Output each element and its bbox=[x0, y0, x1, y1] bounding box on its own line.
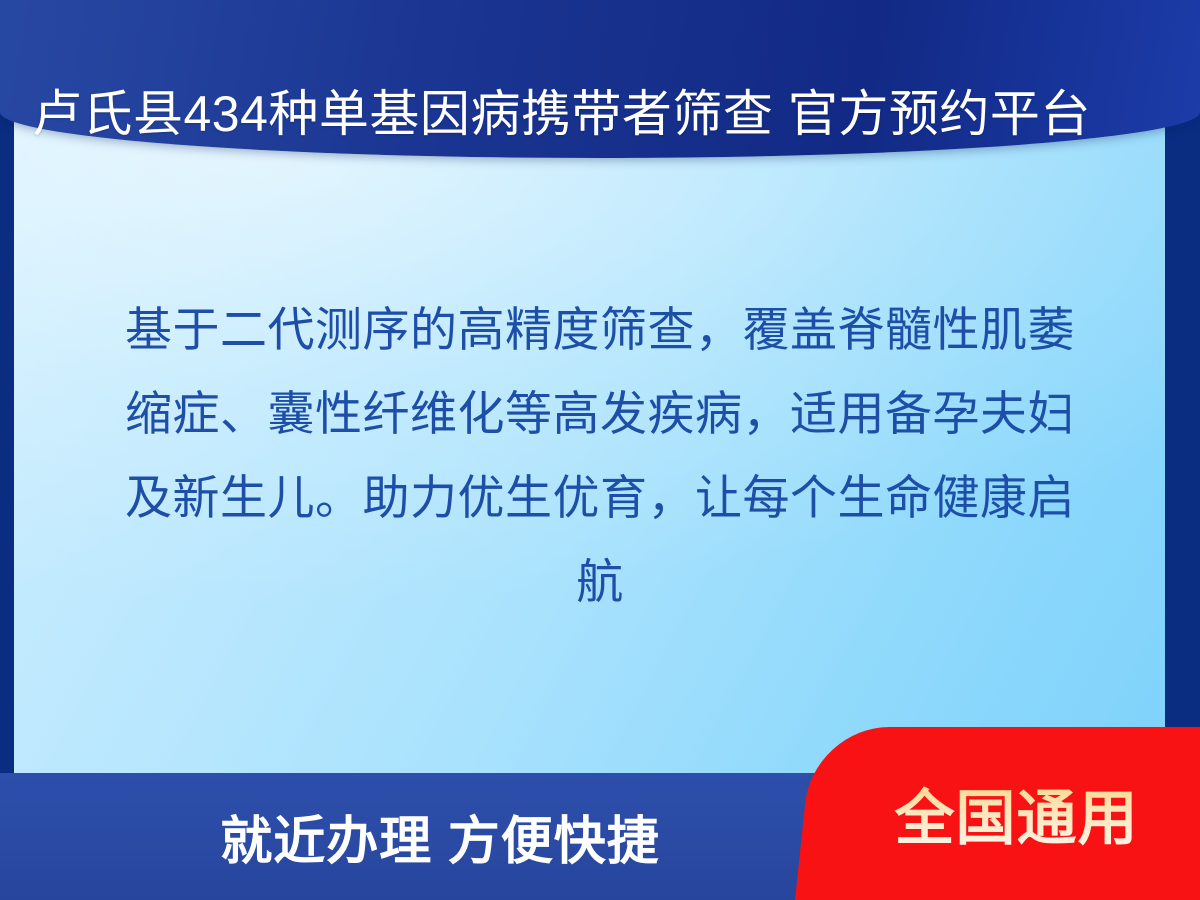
promo-banner: 卢氏县434种单基因病携带者筛查 官方预约平台 基于二代测序的高精度筛查，覆盖脊… bbox=[0, 0, 1200, 900]
nationwide-badge-label: 全国通用 bbox=[795, 727, 1200, 900]
footer-slogan: 就近办理 方便快捷 bbox=[0, 773, 880, 900]
service-description: 基于二代测序的高精度筛查，覆盖脊髓性肌萎缩症、囊性纤维化等高发疾病，适用备孕夫妇… bbox=[120, 288, 1080, 624]
page-title: 卢氏县434种单基因病携带者筛查 官方预约平台 bbox=[0, 60, 1200, 160]
